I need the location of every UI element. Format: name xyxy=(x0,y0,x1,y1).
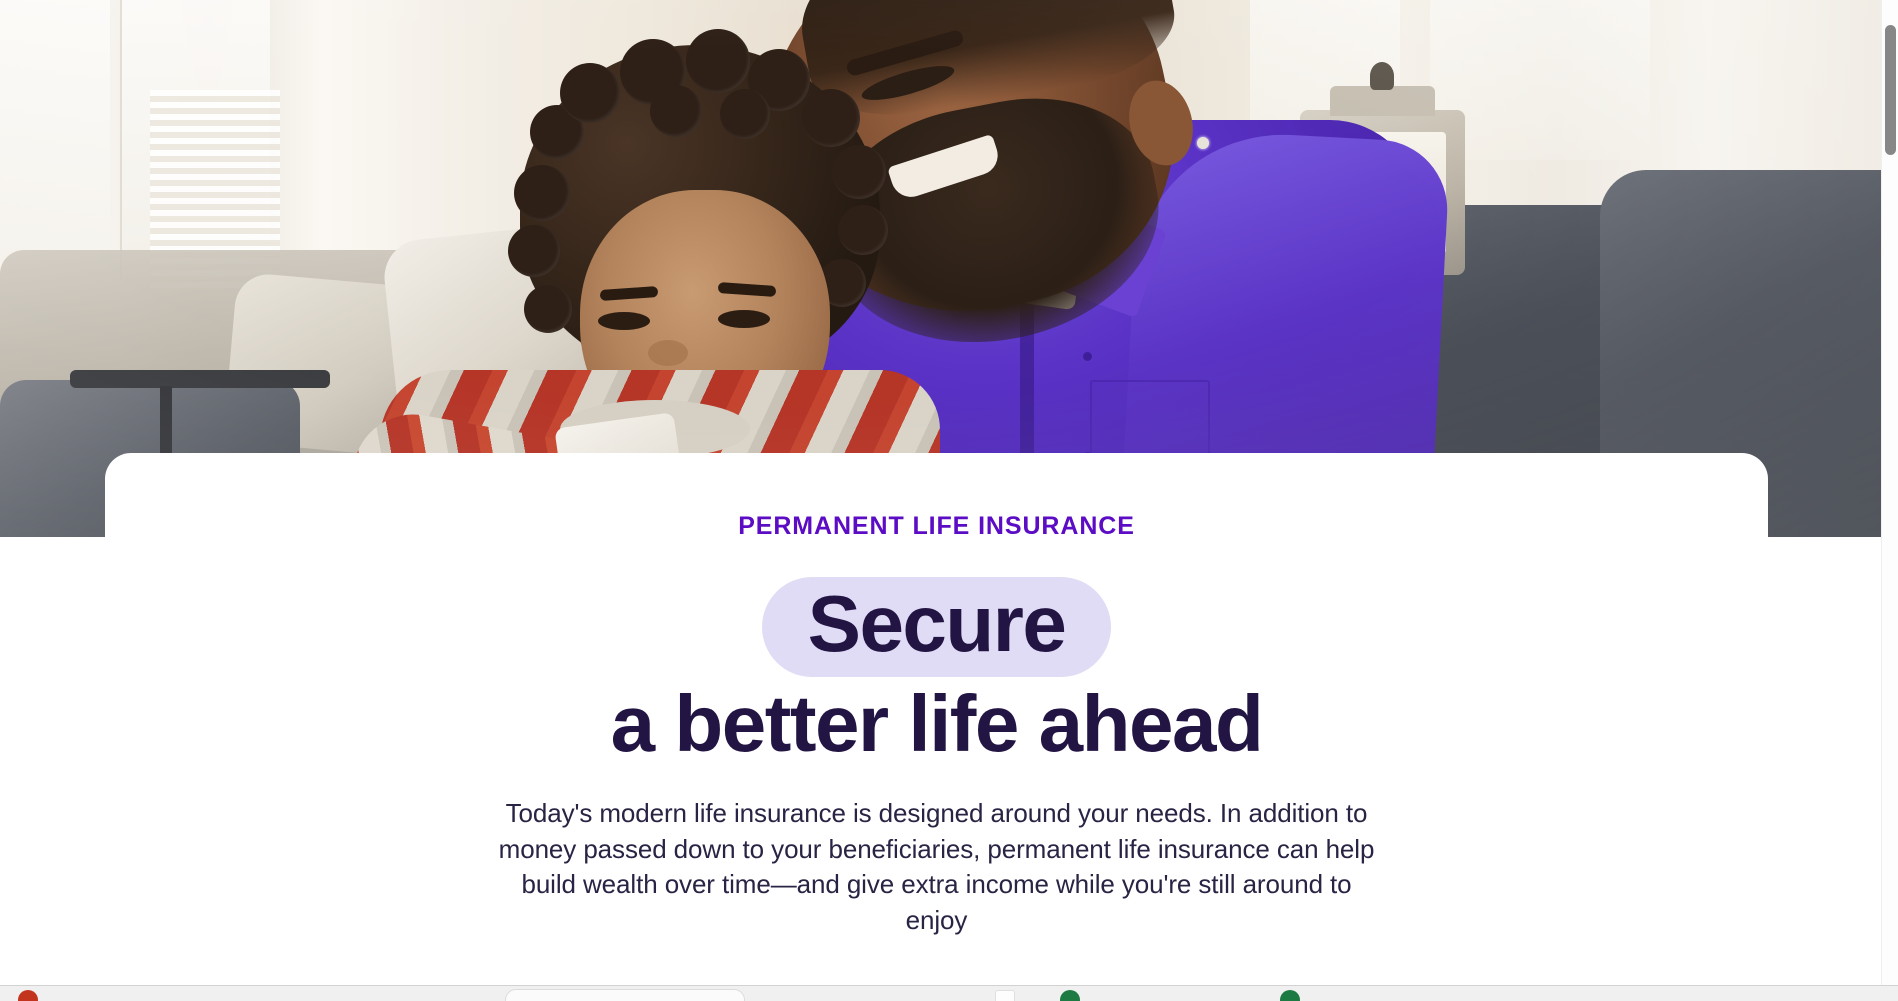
excel-icon[interactable] xyxy=(1060,990,1080,1001)
eyebrow-label: PERMANENT LIFE INSURANCE xyxy=(105,511,1768,541)
taskbar[interactable] xyxy=(0,985,1898,1001)
spotify-icon[interactable] xyxy=(1280,990,1300,1001)
lantern-finial xyxy=(1370,62,1394,90)
headline-highlight: Secure xyxy=(762,577,1112,677)
browser-viewport: PERMANENT LIFE INSURANCE Secure a better… xyxy=(0,0,1898,1001)
intro-paragraph: Today's modern life insurance is designe… xyxy=(491,796,1383,938)
vertical-scrollbar[interactable] xyxy=(1881,0,1898,985)
headline-line-2: a better life ahead xyxy=(105,683,1768,765)
child-nose xyxy=(648,340,688,366)
side-table xyxy=(70,370,330,388)
taskbar-search-field[interactable] xyxy=(505,989,745,1001)
shirt-button xyxy=(1083,352,1092,361)
lantern-top xyxy=(1330,86,1435,116)
child-eye xyxy=(598,312,650,330)
content-card-inner: PERMANENT LIFE INSURANCE Secure a better… xyxy=(105,453,1768,939)
child-eye xyxy=(718,310,770,328)
file-explorer-icon[interactable] xyxy=(995,990,1015,1001)
scrollbar-thumb[interactable] xyxy=(1885,25,1896,155)
page-title: Secure a better life ahead xyxy=(105,577,1768,764)
opera-icon[interactable] xyxy=(18,990,38,1001)
earring xyxy=(1197,137,1209,149)
headline-line-1: Secure xyxy=(105,577,1768,677)
content-card: PERMANENT LIFE INSURANCE Secure a better… xyxy=(105,453,1768,1001)
